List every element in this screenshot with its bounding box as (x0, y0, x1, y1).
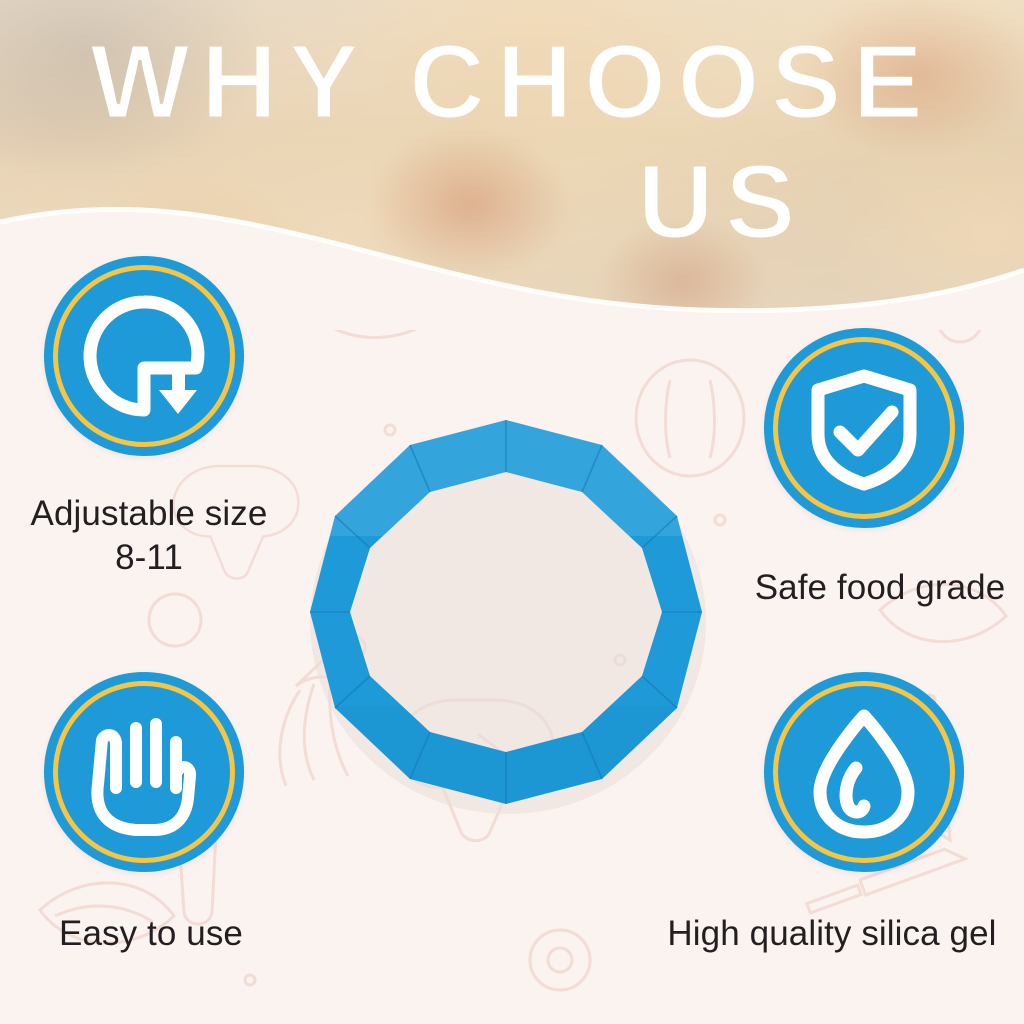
feature-label-adjustable-size: Adjustable size 8-11 (4, 492, 294, 580)
shield-check-icon (764, 328, 964, 528)
infographic-canvas: WHY CHOOSE US WHY CHOOSE US (0, 0, 1024, 1024)
feature-badge-adjustable-size (44, 256, 244, 456)
hand-icon (44, 672, 244, 872)
resize-arrow-icon (44, 256, 244, 456)
feature-badge-safe-food-grade (764, 328, 964, 528)
feature-label-safe-food-grade: Safe food grade (720, 566, 1024, 610)
feature-badge-easy-to-use (44, 672, 244, 872)
feature-label-high-quality-silica-gel: High quality silica gel (640, 912, 1024, 956)
water-drop-icon (764, 672, 964, 872)
product-silicone-ring (296, 406, 716, 826)
feature-badge-high-quality-silica-gel (764, 672, 964, 872)
feature-label-easy-to-use: Easy to use (6, 912, 296, 956)
